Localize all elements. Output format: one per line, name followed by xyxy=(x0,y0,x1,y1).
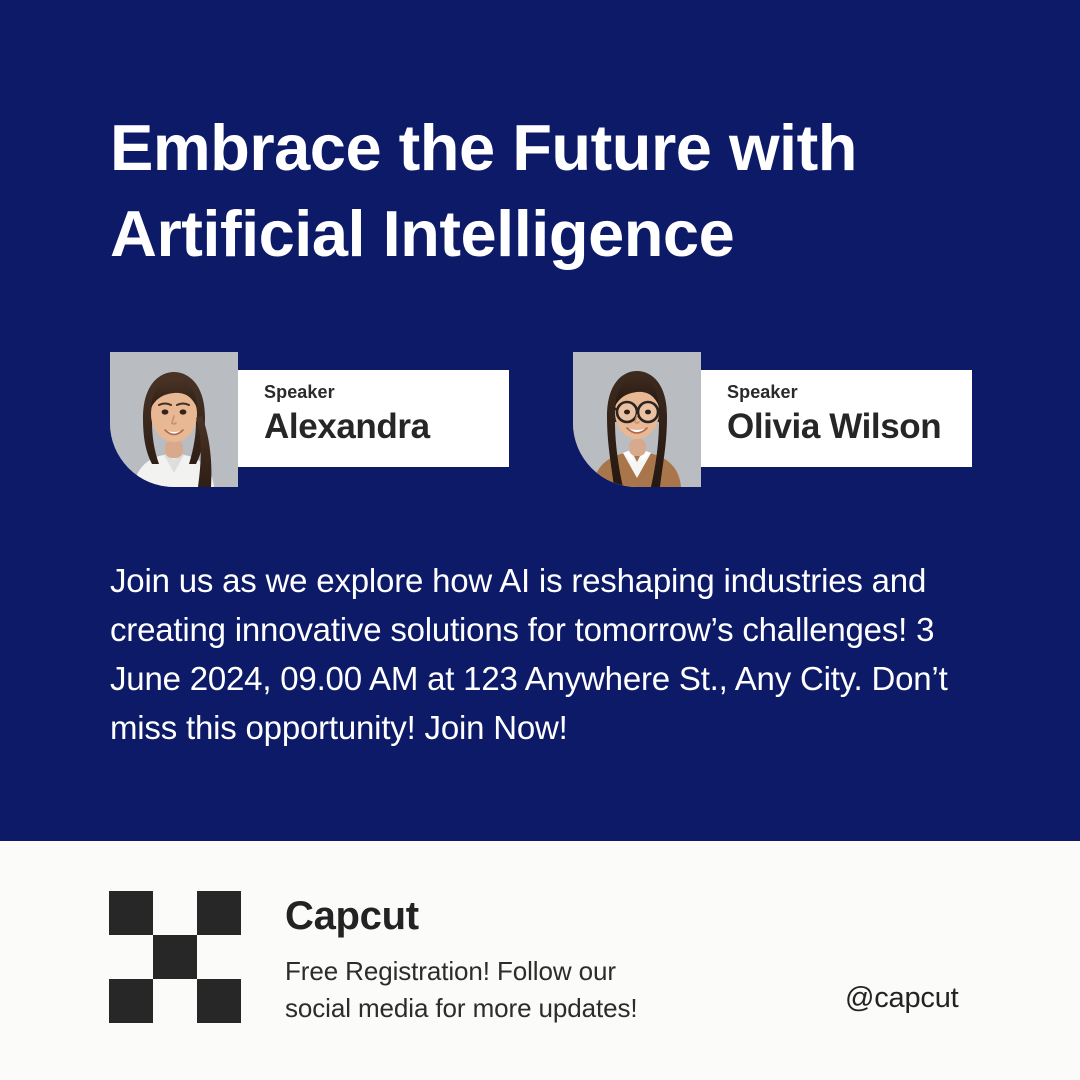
speaker-card[interactable]: Speaker Olivia Wilson xyxy=(573,352,972,487)
page-title: Embrace the Future with Artificial Intel… xyxy=(110,105,1010,278)
checkerboard-x-logo-icon xyxy=(109,891,241,1023)
brand-name: Capcut xyxy=(285,893,755,939)
logo-cell xyxy=(153,935,197,979)
registration-tagline: Free Registration! Follow our social med… xyxy=(285,953,755,1027)
portrait-illustration-icon xyxy=(573,352,701,487)
logo-cell xyxy=(153,979,197,1023)
speaker-name-card: Speaker Alexandra xyxy=(238,370,509,467)
poster-canvas: Embrace the Future with Artificial Intel… xyxy=(0,0,1080,1080)
speaker-name-card: Speaker Olivia Wilson xyxy=(701,370,972,467)
logo-cell xyxy=(109,935,153,979)
logo-cell xyxy=(153,891,197,935)
logo-cell xyxy=(197,979,241,1023)
logo-cell xyxy=(109,979,153,1023)
portrait-illustration-icon xyxy=(110,352,238,487)
avatar xyxy=(573,352,701,487)
avatar xyxy=(110,352,238,487)
logo-cell xyxy=(197,891,241,935)
speaker-card[interactable]: Speaker Alexandra xyxy=(110,352,509,487)
speaker-role-label: Speaker xyxy=(264,383,509,403)
brand-block: Capcut Free Registration! Follow our soc… xyxy=(285,893,755,1027)
event-description: Join us as we explore how AI is reshapin… xyxy=(110,556,990,752)
hero-panel: Embrace the Future with Artificial Intel… xyxy=(0,0,1080,841)
speaker-name: Olivia Wilson xyxy=(727,405,972,449)
logo-cell xyxy=(109,891,153,935)
speaker-list: Speaker Alexandra xyxy=(0,352,1080,487)
speaker-role-label: Speaker xyxy=(727,383,972,403)
speaker-name: Alexandra xyxy=(264,405,509,449)
social-handle[interactable]: @capcut xyxy=(845,982,958,1015)
logo-cell xyxy=(197,935,241,979)
